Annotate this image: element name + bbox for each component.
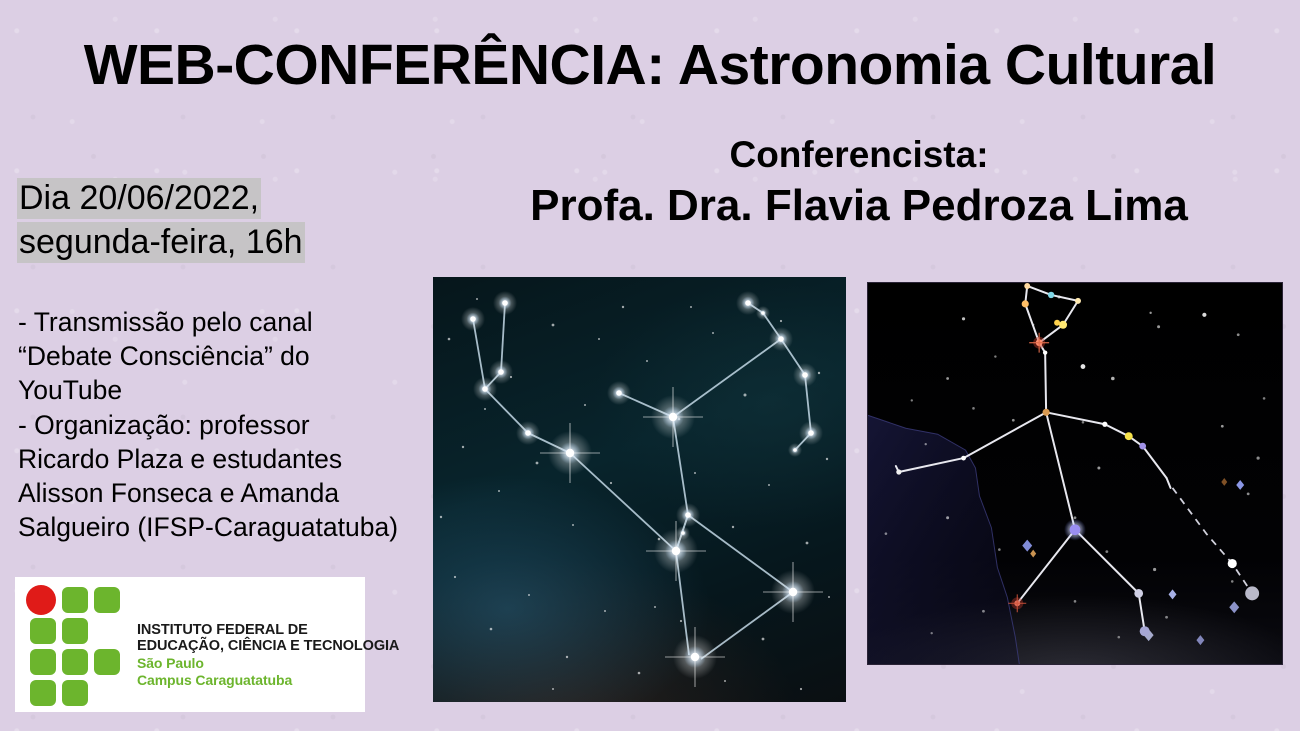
detail-line-organization-2: Ricardo Plaza e estudantes (18, 442, 410, 476)
detail-line-broadcast-3: YouTube (18, 373, 410, 407)
detail-line-broadcast-2: “Debate Consciência” do (18, 339, 410, 373)
event-date-line-2: segunda-feira, 16h (17, 222, 305, 263)
ifsp-logo-text: INSTITUTO FEDERAL DE EDUCAÇÃO, CIÊNCIA E… (137, 623, 399, 689)
indigenous-constellation-photo (867, 282, 1283, 665)
logo-green-square (30, 618, 56, 644)
speaker-block: Conferencista: Profa. Dra. Flavia Pedroz… (430, 134, 1288, 231)
ifsp-name-line-2: EDUCAÇÃO, CIÊNCIA E TECNOLOGIA (137, 639, 399, 655)
indigenous-constellation-graphic (868, 283, 1282, 664)
ifsp-campus-state: São Paulo (137, 656, 399, 671)
event-date-block: Dia 20/06/2022, segunda-feira, 16h (17, 177, 387, 264)
speaker-label: Conferencista: (430, 134, 1288, 177)
page-title: WEB-CONFERÊNCIA: Astronomia Cultural (0, 36, 1300, 96)
speaker-name: Profa. Dra. Flavia Pedroza Lima (430, 181, 1288, 232)
logo-green-square (30, 649, 56, 675)
logo-green-square (62, 649, 88, 675)
event-date-line-1: Dia 20/06/2022, (17, 178, 261, 219)
detail-line-organization-4: Salgueiro (IFSP-Caraguatatuba) (18, 510, 410, 544)
ifsp-name-line-1: INSTITUTO FEDERAL DE (137, 623, 399, 639)
logo-green-square (62, 587, 88, 613)
ifsp-campus-name: Campus Caraguatatuba (137, 673, 399, 688)
detail-line-organization-3: Alisson Fonseca e Amanda (18, 476, 410, 510)
logo-green-square (62, 618, 88, 644)
orion-constellation-graphic (433, 277, 846, 702)
logo-green-square (94, 649, 120, 675)
detail-line-broadcast-1: - Transmissão pelo canal (18, 305, 410, 339)
orion-constellation-photo (433, 277, 846, 702)
logo-green-square (94, 587, 120, 613)
ifsp-logo: INSTITUTO FEDERAL DE EDUCAÇÃO, CIÊNCIA E… (15, 577, 365, 712)
logo-green-square (62, 680, 88, 706)
logo-green-square (30, 680, 56, 706)
event-details-block: - Transmissão pelo canal “Debate Consciê… (18, 305, 410, 544)
detail-line-organization-1: - Organização: professor (18, 408, 410, 442)
ifsp-logo-mark (26, 585, 130, 705)
conference-announcement-slide: WEB-CONFERÊNCIA: Astronomia Cultural Con… (0, 0, 1300, 731)
logo-red-circle (26, 585, 56, 615)
